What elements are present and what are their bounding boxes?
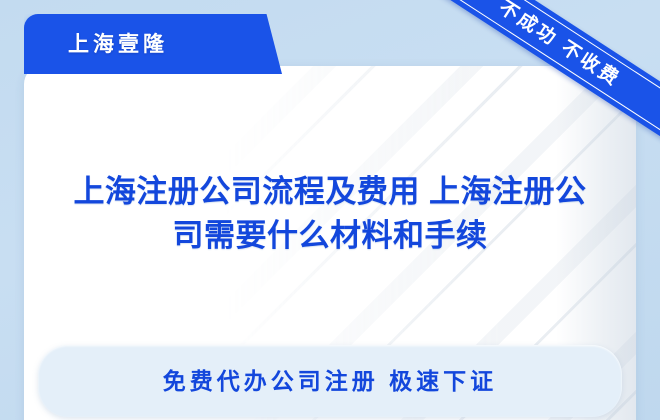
cta-banner[interactable]: 免费代办公司注册 极速下证	[38, 345, 622, 417]
page-title: 上海注册公司流程及费用 上海注册公司需要什么材料和手续	[24, 170, 636, 258]
brand-name-label: 上海壹隆	[24, 34, 168, 55]
brand-logo-tab[interactable]: 上海壹隆	[24, 14, 282, 74]
promo-poster: 上海注册公司流程及费用 上海注册公司需要什么材料和手续 免费代办公司注册 极速下…	[0, 0, 660, 420]
content-card: 上海注册公司流程及费用 上海注册公司需要什么材料和手续 免费代办公司注册 极速下…	[24, 66, 636, 420]
cta-banner-label: 免费代办公司注册 极速下证	[163, 370, 497, 393]
